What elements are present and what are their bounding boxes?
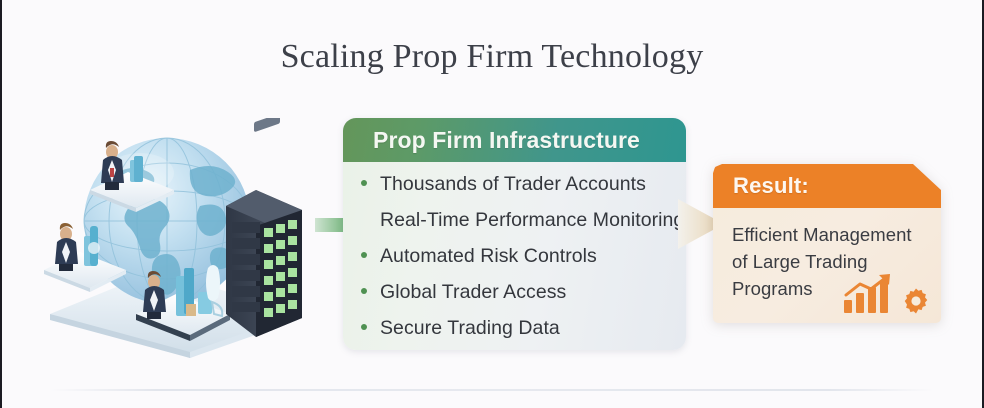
growth-bar-chart-icon bbox=[843, 274, 895, 319]
list-item-label: Real-Time Performance Monitoring bbox=[380, 209, 684, 232]
page-title: Scaling Prop Firm Technology bbox=[2, 38, 982, 76]
server-rack-icon bbox=[226, 118, 302, 337]
bullet-icon bbox=[361, 180, 367, 186]
result-header-label: Result: bbox=[733, 173, 809, 199]
slide-canvas: Scaling Prop Firm Technology bbox=[2, 0, 982, 408]
bottom-divider bbox=[50, 389, 934, 391]
gear-icon bbox=[903, 288, 929, 319]
list-item-label: Automated Risk Controls bbox=[380, 245, 597, 268]
list-item: Automated Risk Controls bbox=[361, 245, 672, 277]
list-item: Secure Trading Data bbox=[361, 317, 672, 349]
bullet-icon bbox=[361, 252, 367, 258]
panel-header: Prop Firm Infrastructure bbox=[343, 118, 686, 162]
result-card-header: Result: bbox=[713, 164, 941, 208]
result-card: Result: Efficient Management of Large Tr… bbox=[713, 164, 941, 323]
list-item: Global Trader Access bbox=[361, 281, 672, 313]
list-item-label: Secure Trading Data bbox=[380, 317, 560, 340]
result-line: of Large Trading bbox=[732, 248, 925, 275]
list-item: Thousands of Trader Accounts bbox=[361, 173, 672, 205]
result-line: Efficient Management bbox=[732, 221, 925, 248]
bullet-icon bbox=[361, 324, 367, 330]
prop-firm-infrastructure-panel: Prop Firm Infrastructure Thousands of Tr… bbox=[343, 118, 686, 350]
businessman-figure bbox=[101, 141, 124, 190]
global-infrastructure-illustration bbox=[40, 118, 340, 358]
panel-body: Thousands of Trader Accounts Real-Time P… bbox=[343, 162, 686, 350]
list-item-label: Global Trader Access bbox=[380, 281, 566, 304]
bullet-icon bbox=[361, 288, 367, 294]
list-item-label: Thousands of Trader Accounts bbox=[380, 173, 646, 196]
result-card-body: Efficient Management of Large Trading Pr… bbox=[713, 208, 941, 323]
result-icon-group bbox=[843, 274, 929, 319]
panel-header-label: Prop Firm Infrastructure bbox=[373, 127, 640, 154]
businessman-figure bbox=[55, 223, 78, 271]
feature-list: Thousands of Trader Accounts Real-Time P… bbox=[361, 173, 672, 349]
list-item: Real-Time Performance Monitoring bbox=[361, 209, 672, 241]
